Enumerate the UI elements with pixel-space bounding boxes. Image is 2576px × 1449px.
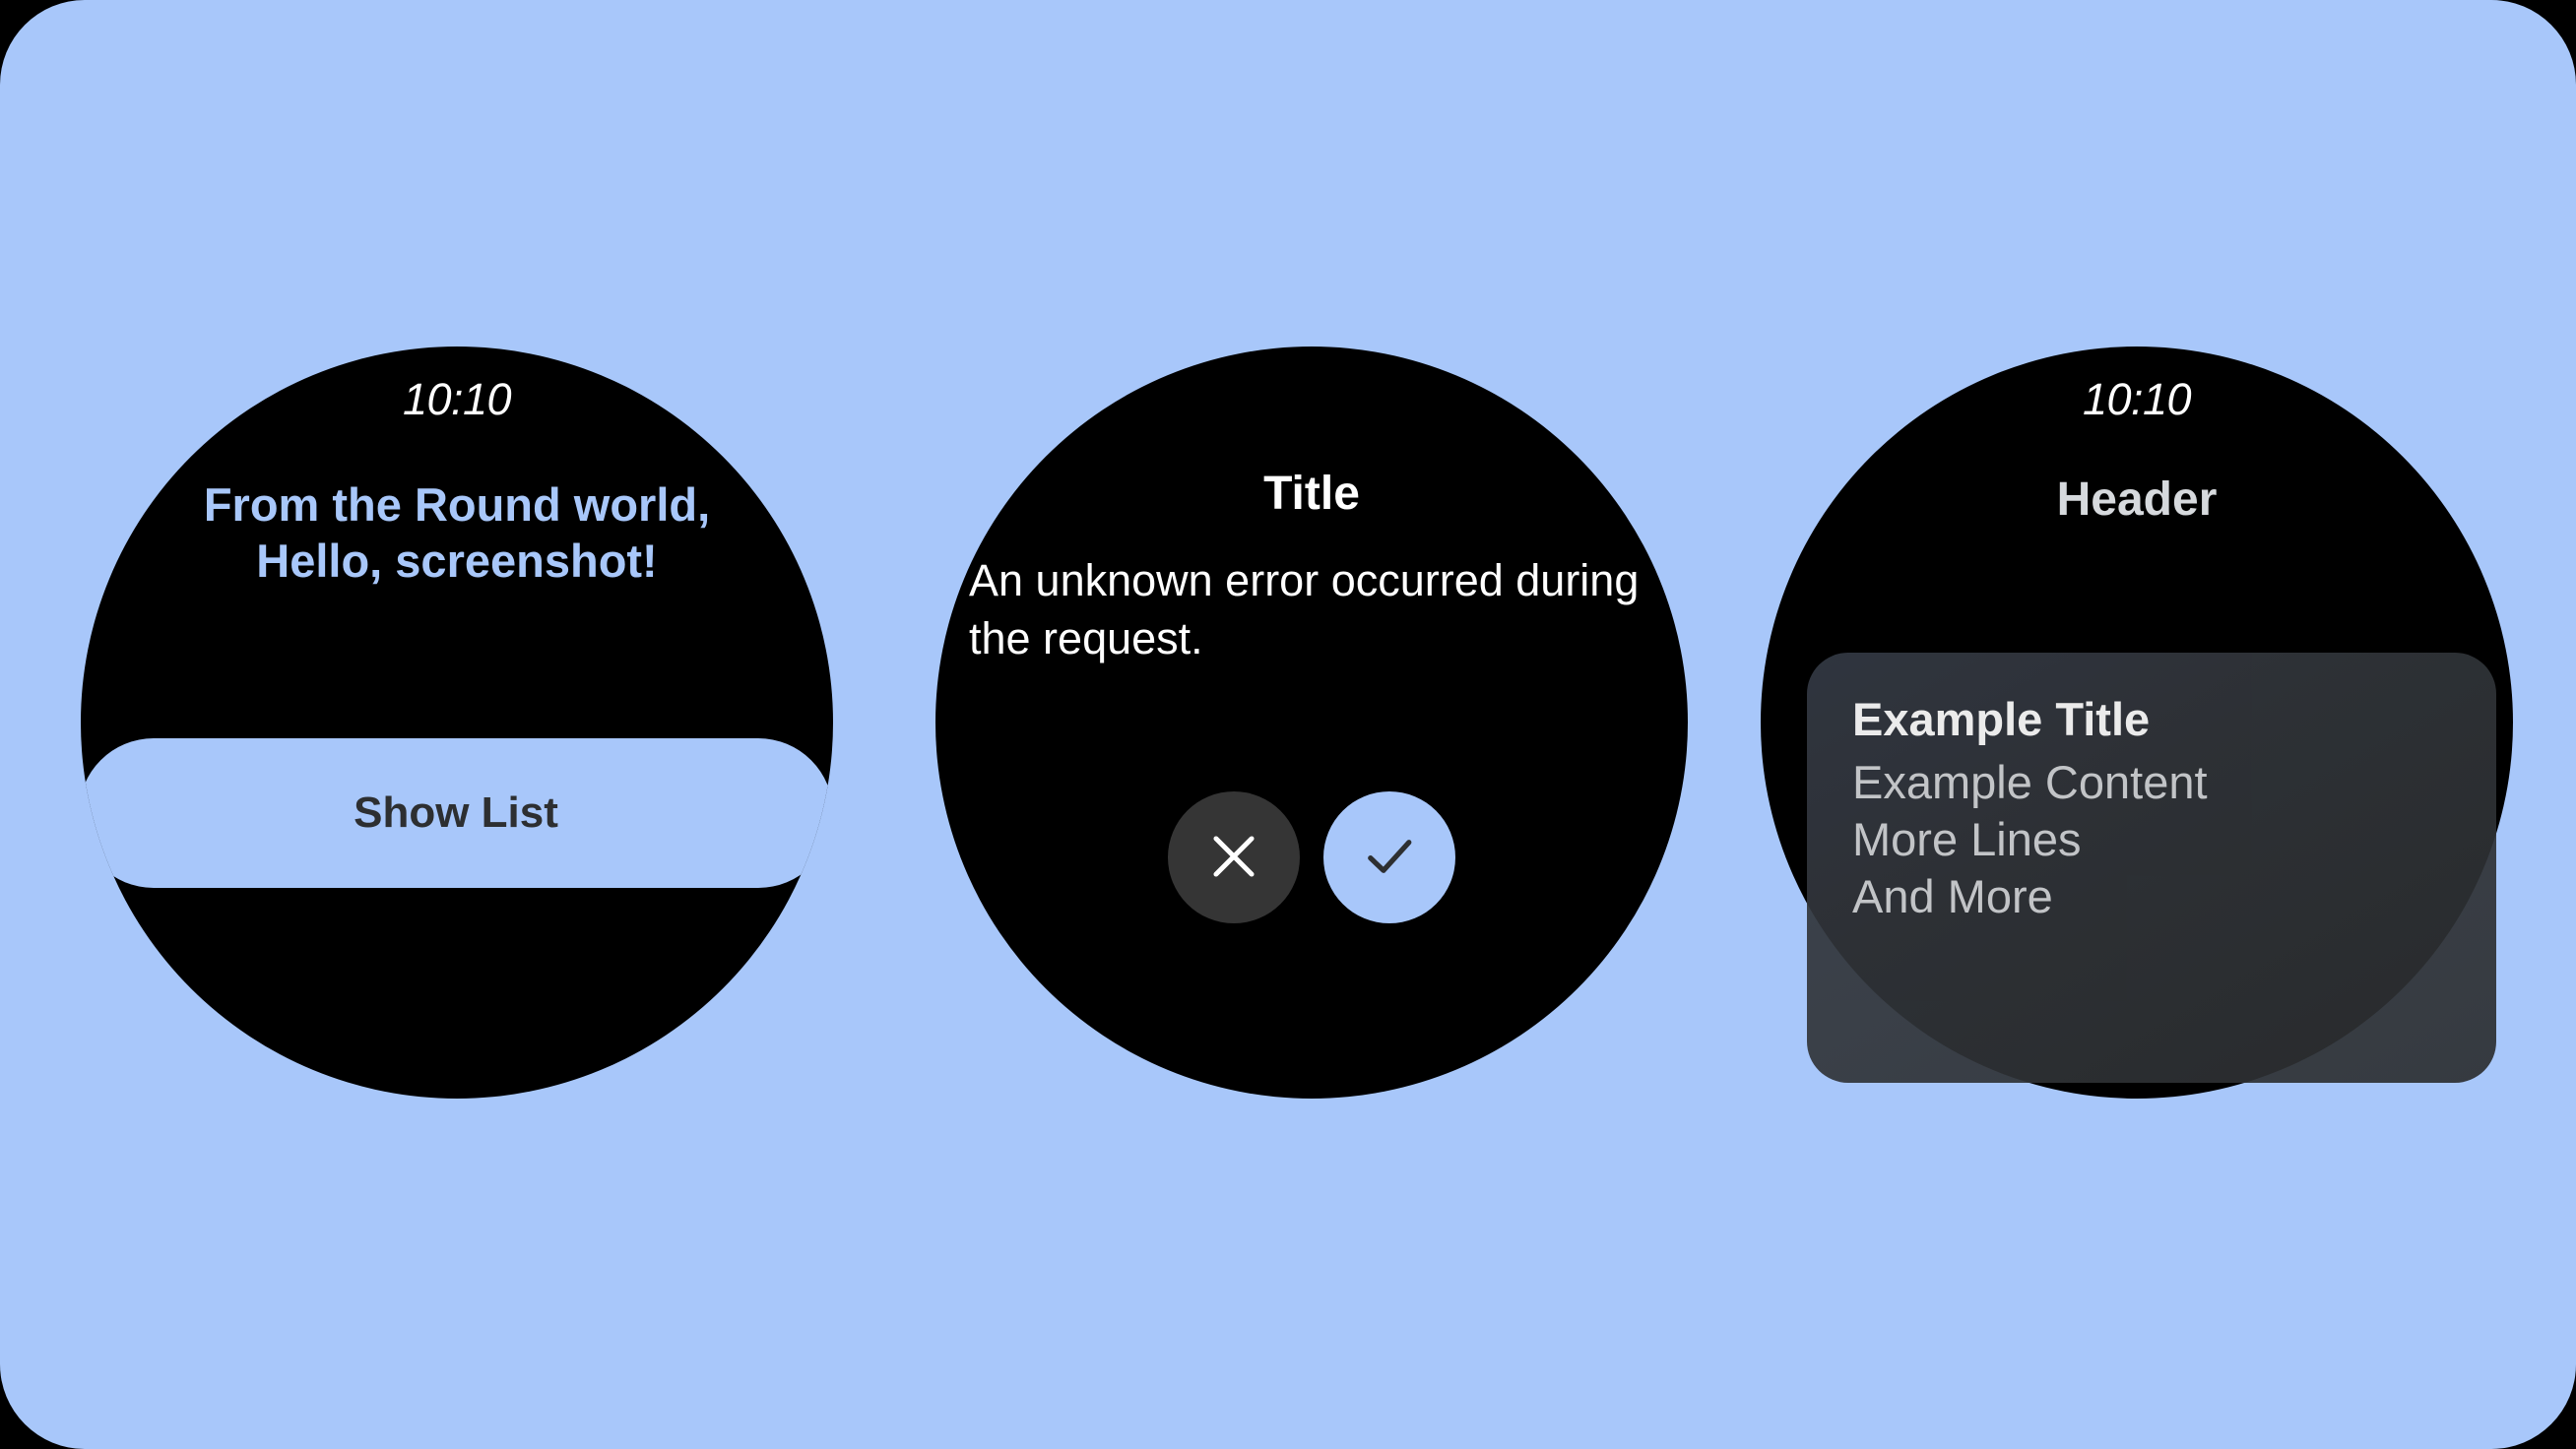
status-time: 10:10	[81, 374, 833, 425]
dialog-title: Title	[935, 467, 1688, 521]
dialog-actions	[935, 791, 1688, 923]
list-header: Header	[1761, 472, 2513, 527]
card-title: Example Title	[1852, 694, 2496, 746]
dismiss-button[interactable]	[1168, 791, 1300, 923]
check-icon	[1357, 824, 1422, 892]
greeting-text: From the Round world,Hello, screenshot!	[126, 476, 788, 590]
round-greeting-watch: 10:10 From the Round world,Hello, screen…	[81, 346, 833, 1099]
confirm-button[interactable]	[1323, 791, 1455, 923]
show-list-button[interactable]: Show List	[81, 738, 833, 888]
card-line-1: Example Content	[1852, 754, 2496, 811]
dialog-message: An unknown error occurred during the req…	[969, 551, 1658, 668]
status-time: 10:10	[1761, 374, 2513, 425]
close-icon	[1203, 826, 1264, 890]
greeting-line-2: Hello, screenshot!	[256, 535, 657, 587]
greeting-line-1: From the Round world,	[204, 478, 710, 531]
card-line-3: And More	[1852, 868, 2496, 925]
screenshot-canvas: 10:10 From the Round world,Hello, screen…	[0, 0, 2576, 1449]
card-line-2: More Lines	[1852, 811, 2496, 868]
example-card[interactable]: Example Title Example Content More Lines…	[1807, 653, 2496, 1083]
round-alert-dialog-watch: Title An unknown error occurred during t…	[935, 346, 1688, 1099]
